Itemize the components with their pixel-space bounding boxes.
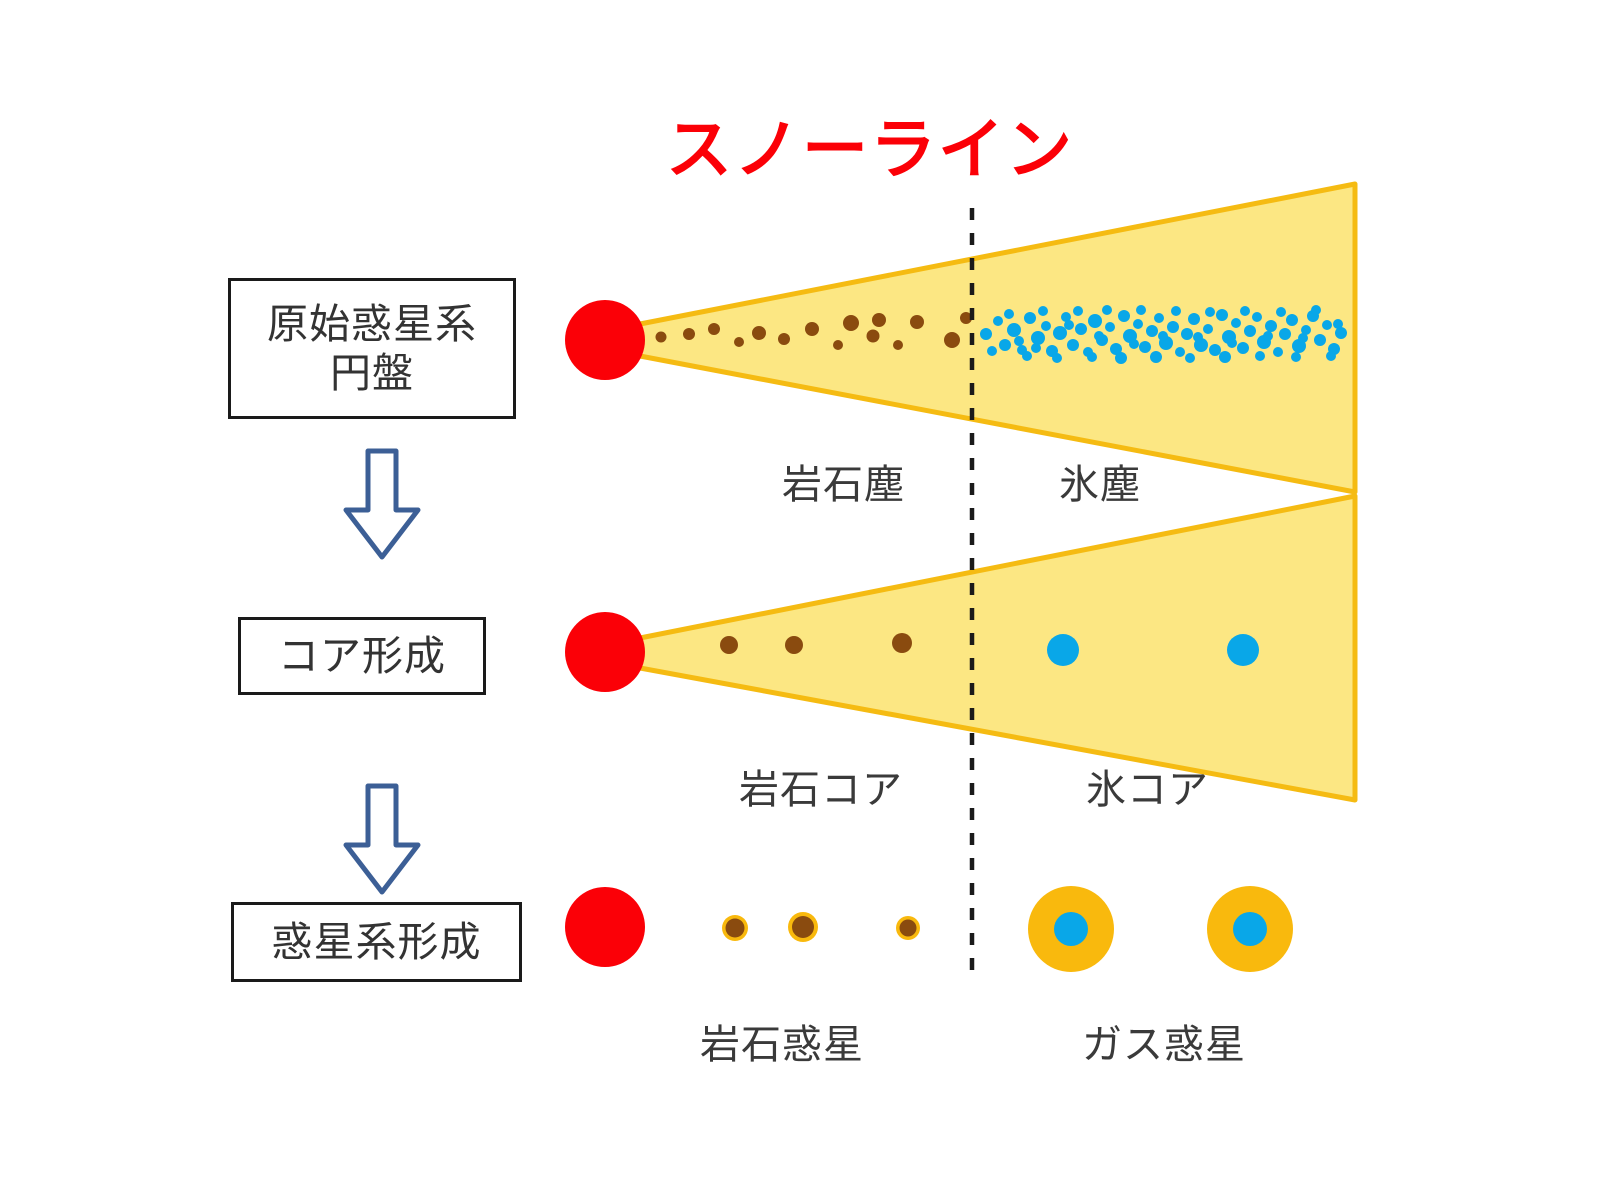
central-star-row1 [565,300,645,380]
stage-label-text: 惑星系形成 [272,918,482,966]
stage-label-protoplanetary-disk: 原始惑星系 円盤 [228,278,516,419]
rocky-planet-core [900,920,917,937]
caption-gas-planet: ガス惑星 [1082,1012,1246,1070]
rocky-planets [722,912,920,942]
flow-arrow-down-2 [339,782,425,897]
diagram-canvas: スノーライン [0,0,1600,1200]
central-star-row2 [565,612,645,692]
central-star-row3 [565,887,645,967]
caption-ice-core: 氷コア [1086,757,1209,815]
caption-rock-planet: 岩石惑星 [700,1012,864,1070]
stage-label-core-formation: コア形成 [238,617,486,695]
gas-planet-core [1233,912,1267,946]
row-system-formation [565,886,1293,972]
caption-rock-dust: 岩石塵 [782,452,905,510]
gas-planets [1028,886,1293,972]
gas-planet-core [1054,912,1088,946]
stage-label-text: 原始惑星系 円盤 [267,300,477,397]
stage-label-system-formation: 惑星系形成 [231,902,522,982]
disk-wedge-row1 [640,184,1355,492]
rocky-planet-core [726,919,745,938]
row-protoplanetary-disk [565,184,1355,492]
row-core-formation [565,496,1355,800]
rocky-planet-core [792,916,814,938]
stage-label-text: コア形成 [278,632,446,680]
flow-arrow-down-1 [339,447,425,562]
caption-rock-core: 岩石コア [739,757,903,815]
caption-ice-dust: 氷塵 [1059,452,1141,510]
